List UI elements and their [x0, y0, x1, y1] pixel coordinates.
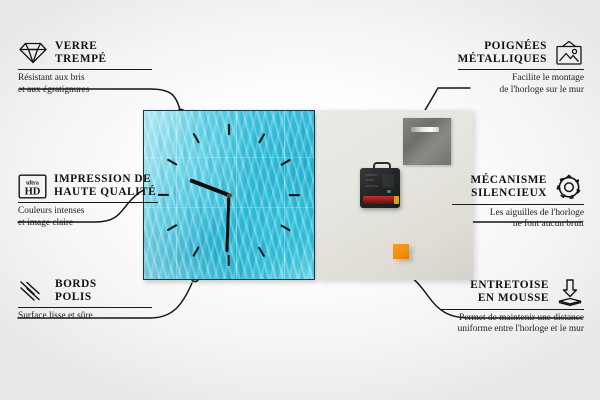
svg-text:HD: HD: [25, 186, 41, 197]
hour-tick: [258, 247, 265, 257]
feature-header: MÉCANISME SILENCIEUX: [452, 173, 584, 201]
feature-description: Facilite le montage de l'horloge sur le …: [458, 73, 584, 96]
feature-title: ENTRETOISE EN MOUSSE: [470, 279, 549, 305]
feature-title: MÉCANISME SILENCIEUX: [471, 174, 548, 200]
feature-divider: [458, 69, 584, 70]
diamond-icon: [18, 41, 48, 65]
feature-description: Surface lisse et sûre: [18, 311, 152, 322]
hour-tick: [228, 124, 230, 135]
orange-foam-spacer: [393, 244, 409, 259]
hour-tick: [158, 194, 169, 196]
feature-divider: [18, 69, 152, 70]
feature-description: Résistant aux bris et aux égratignures: [18, 73, 152, 96]
feature-divider: [18, 202, 158, 203]
mechanism-detail: [387, 190, 391, 193]
feature-header: POIGNÉES MÉTALLIQUES: [458, 40, 584, 66]
hour-tick: [228, 255, 230, 266]
feature-verre-trempe: VERRE TREMPÉ Résistant aux bris et aux é…: [18, 40, 152, 96]
foam-spacer-arrow-icon: [556, 278, 584, 306]
hour-tick: [281, 159, 291, 166]
metal-hanger-plate: [403, 118, 451, 165]
clock-back-panel: [317, 110, 473, 280]
hanger-slot: [411, 127, 439, 132]
hour-tick: [167, 224, 177, 231]
hour-tick: [258, 133, 265, 143]
feature-header: BORDS POLIS: [18, 278, 152, 304]
feature-title: BORDS POLIS: [55, 278, 97, 304]
clock-dial: [154, 120, 304, 270]
feature-description: Couleurs intenses et image claire: [18, 206, 158, 229]
feature-divider: [18, 307, 152, 308]
hour-tick: [193, 133, 200, 143]
feature-title: POIGNÉES MÉTALLIQUES: [458, 40, 547, 66]
wall-mount-picture-icon: [554, 40, 584, 66]
mechanism-hanging-loop: [373, 162, 391, 173]
feature-divider: [440, 309, 584, 310]
feature-description: Les aiguilles de l'horloge ne font aucun…: [452, 208, 584, 231]
feature-bords-polis: BORDS POLIS Surface lisse et sûre: [18, 278, 152, 323]
mechanism-detail: [382, 174, 394, 188]
gear-icon: [554, 173, 584, 201]
feature-impression-haute-qualite: ultra HD IMPRESSION DE HAUTE QUALITÉ Cou…: [18, 173, 158, 229]
feature-divider: [452, 204, 584, 205]
mechanism-detail: [365, 174, 378, 176]
feature-header: ENTRETOISE EN MOUSSE: [440, 278, 584, 306]
feature-title: VERRE TREMPÉ: [55, 40, 107, 66]
feature-header: ultra HD IMPRESSION DE HAUTE QUALITÉ: [18, 173, 158, 199]
polished-edges-icon: [18, 279, 48, 303]
mechanism-detail: [365, 179, 374, 181]
product-image: [143, 110, 473, 280]
clock-center-cap: [227, 193, 232, 198]
feature-description: Permet de maintenir une distance uniform…: [440, 313, 584, 336]
feature-mecanisme-silencieux: MÉCANISME SILENCIEUX Les aiguilles de l'…: [452, 173, 584, 231]
hour-tick: [281, 224, 291, 231]
aa-battery: [363, 196, 396, 204]
clock-hour-hand: [189, 178, 230, 197]
hour-tick: [167, 159, 177, 166]
product-infographic: VERRE TREMPÉ Résistant aux bris et aux é…: [0, 0, 600, 400]
clock-minute-hand: [225, 195, 230, 252]
hour-tick: [193, 247, 200, 257]
feature-title: IMPRESSION DE HAUTE QUALITÉ: [54, 173, 156, 199]
feature-header: VERRE TREMPÉ: [18, 40, 152, 66]
mechanism-detail: [365, 185, 379, 187]
ultra-hd-icon: ultra HD: [18, 174, 47, 199]
feature-entretoise-en-mousse: ENTRETOISE EN MOUSSE Permet de maintenir…: [440, 278, 584, 336]
feature-poignees-metalliques: POIGNÉES MÉTALLIQUES Facilite le montage…: [458, 40, 584, 96]
hour-tick: [289, 194, 300, 196]
battery-terminal: [394, 196, 399, 204]
quartz-clock-mechanism: [360, 168, 400, 208]
clock-front-panel: [143, 110, 315, 280]
